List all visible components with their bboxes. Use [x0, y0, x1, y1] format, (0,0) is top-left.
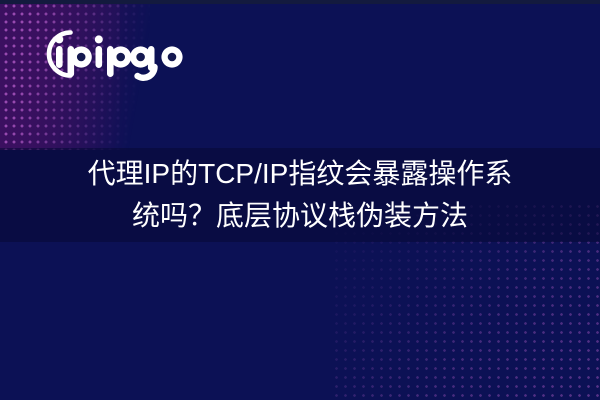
brand-logo[interactable]	[26, 22, 186, 84]
top-edge-strip	[0, 0, 600, 4]
logo-wordmark	[55, 35, 182, 77]
article-cover-banner: 代理IP的TCP/IP指纹会暴露操作系 统吗？底层协议栈伪装方法	[0, 0, 600, 400]
page-title: 代理IP的TCP/IP指纹会暴露操作系 统吗？底层协议栈伪装方法	[30, 153, 570, 237]
logo-svg	[26, 22, 186, 84]
title-band: 代理IP的TCP/IP指纹会暴露操作系 统吗？底层协议栈伪装方法	[0, 148, 600, 242]
